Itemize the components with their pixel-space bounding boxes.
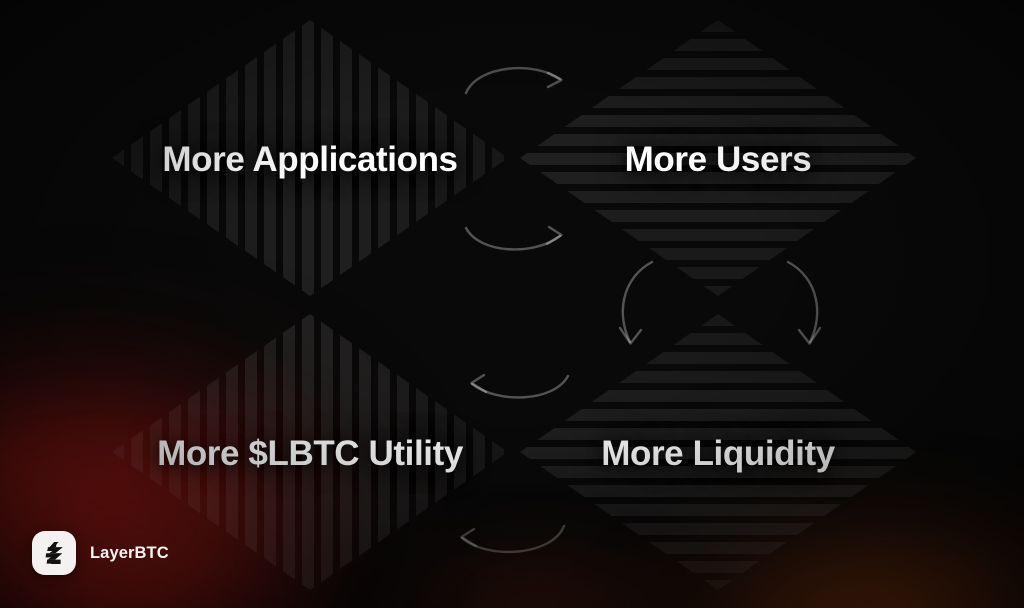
cell-label-more-lbtc-utility: More $LBTC Utility bbox=[110, 434, 510, 474]
flywheel-cell-more-applications: More Applications bbox=[110, 18, 510, 298]
cell-label-more-liquidity: More Liquidity bbox=[518, 434, 918, 474]
stripe-bar bbox=[518, 96, 918, 108]
stripe-bar bbox=[518, 542, 918, 554]
stripe-bar bbox=[518, 561, 918, 573]
brand-lockup: LayerBTC bbox=[32, 531, 169, 575]
stripe-bar bbox=[518, 229, 918, 241]
flywheel-graphic: More Applications More Users More $LBTC … bbox=[0, 0, 1024, 608]
stripe-bar bbox=[518, 485, 918, 497]
stripe-bar bbox=[518, 39, 918, 51]
stripe-bar bbox=[518, 390, 918, 402]
brand-name-label: LayerBTC bbox=[90, 544, 169, 563]
stripe-bar bbox=[518, 267, 918, 279]
stripe-bar bbox=[518, 210, 918, 222]
stripe-bar bbox=[518, 371, 918, 383]
stripe-bar bbox=[518, 77, 918, 89]
flywheel-cell-more-lbtc-utility: More $LBTC Utility bbox=[110, 312, 510, 592]
cell-label-more-applications: More Applications bbox=[110, 140, 510, 180]
stripe-bar bbox=[518, 286, 918, 298]
cell-label-more-users: More Users bbox=[518, 140, 918, 180]
stripe-bar bbox=[518, 504, 918, 516]
stripe-bar bbox=[518, 314, 918, 326]
stripe-bar bbox=[518, 115, 918, 127]
stripe-bar bbox=[518, 58, 918, 70]
stripe-bar bbox=[518, 580, 918, 592]
stripe-bar bbox=[518, 333, 918, 345]
stripe-bar bbox=[518, 191, 918, 203]
stripe-bar bbox=[518, 523, 918, 535]
stripe-bar bbox=[518, 409, 918, 421]
flywheel-cell-more-liquidity: More Liquidity bbox=[518, 312, 918, 592]
stripe-bar bbox=[518, 248, 918, 260]
layerbtc-logo-icon bbox=[32, 531, 76, 575]
stripe-bar bbox=[518, 20, 918, 32]
flywheel-cell-more-users: More Users bbox=[518, 18, 918, 298]
stripe-bar bbox=[518, 352, 918, 364]
